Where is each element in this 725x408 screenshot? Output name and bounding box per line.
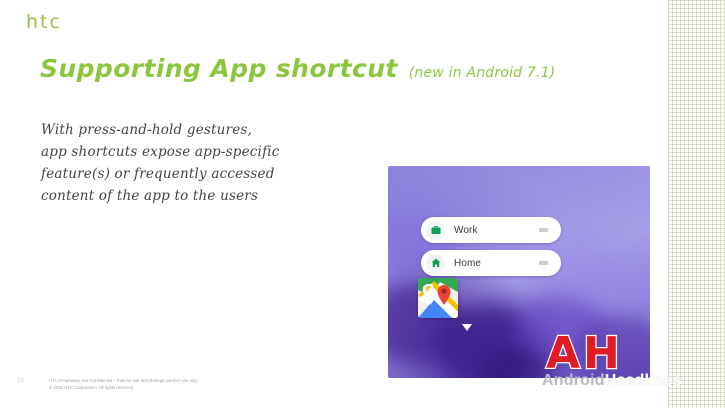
app-shortcut-menu: Work Home bbox=[421, 217, 561, 283]
shortcut-label: Home bbox=[454, 258, 481, 269]
decorative-grid-band bbox=[668, 0, 725, 408]
briefcase-icon bbox=[426, 221, 445, 240]
page-title: Supporting App shortcut (new in Android … bbox=[40, 54, 555, 83]
ah-word-android: Android bbox=[542, 372, 605, 389]
house-icon bbox=[426, 254, 445, 273]
title-subtitle-text: (new in Android 7.1) bbox=[409, 65, 556, 81]
body-line: feature(s) or frequently accessed bbox=[41, 163, 351, 185]
svg-text:G: G bbox=[422, 281, 434, 299]
drag-handle-icon[interactable] bbox=[539, 228, 548, 232]
ah-logo-letters: AH bbox=[546, 332, 623, 376]
title-main-text: Supporting App shortcut bbox=[40, 54, 398, 83]
presentation-slide: htc Supporting App shortcut (new in Andr… bbox=[0, 0, 725, 408]
menu-pointer-tail bbox=[462, 324, 472, 331]
footer-confidentiality-notice: HTC Proprietary and Confidential – Inter… bbox=[49, 378, 197, 391]
ah-word-headlines: Headlines bbox=[605, 372, 682, 389]
slide-number: 23 bbox=[17, 378, 24, 384]
body-line: app shortcuts expose app-specific bbox=[41, 141, 351, 163]
footer-line-1: HTC Proprietary and Confidential – Inter… bbox=[49, 378, 197, 385]
shortcut-item-home[interactable]: Home bbox=[421, 250, 561, 276]
body-line: content of the app to the users bbox=[41, 185, 351, 207]
body-paragraph: With press-and-hold gestures, app shortc… bbox=[41, 119, 351, 207]
htc-logo: htc bbox=[26, 11, 62, 33]
drag-handle-icon[interactable] bbox=[539, 261, 548, 265]
shortcut-label: Work bbox=[454, 225, 478, 236]
shortcut-item-work[interactable]: Work bbox=[421, 217, 561, 243]
ah-logo-wordmark: AndroidHeadlines bbox=[542, 372, 682, 390]
footer-line-2: © 2016 HTC Corporation. All rights reser… bbox=[49, 385, 197, 392]
androidheadlines-watermark: AH AndroidHeadlines bbox=[538, 332, 672, 384]
google-maps-icon[interactable]: G bbox=[418, 278, 458, 318]
body-line: With press-and-hold gestures, bbox=[41, 119, 351, 141]
